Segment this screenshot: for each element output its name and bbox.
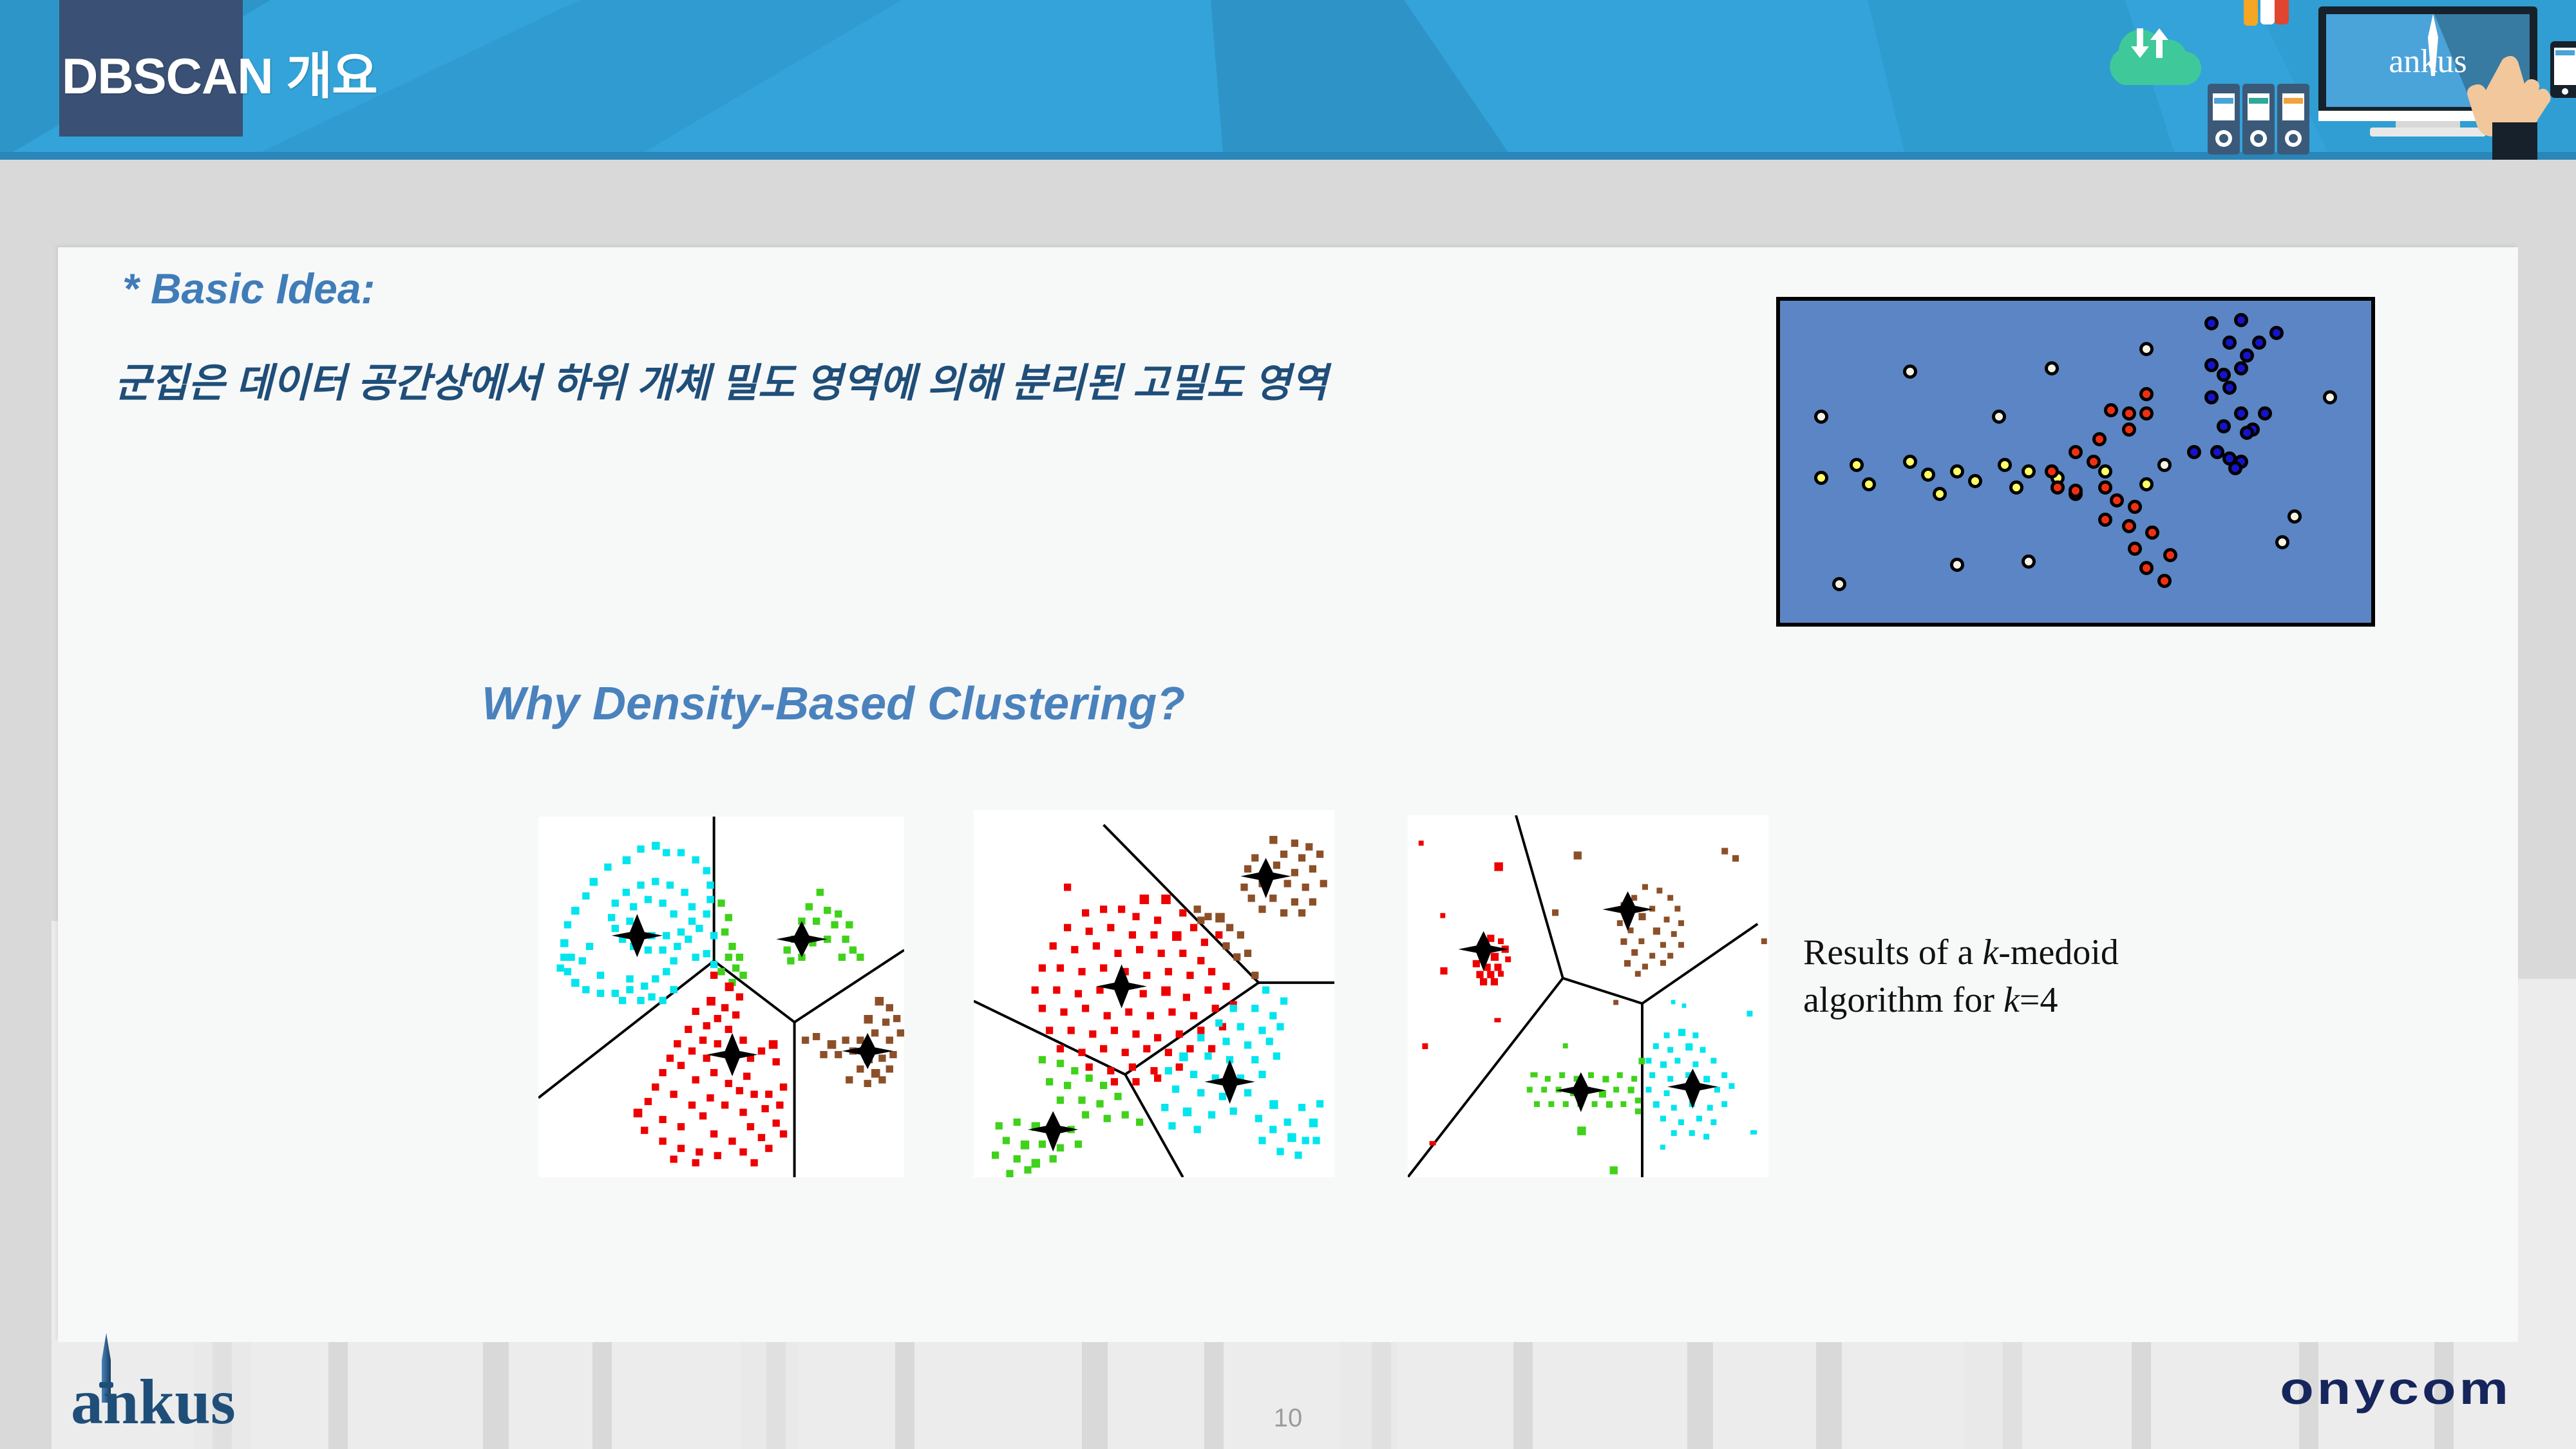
scatter-point-cluster-red xyxy=(2145,526,2159,540)
scatter-point-cluster-yellow xyxy=(1921,468,1935,482)
scatter-point-cluster-yellow xyxy=(1903,455,1917,469)
page-number: 10 xyxy=(0,1404,2576,1433)
scatter-point-noise-white xyxy=(2287,509,2302,524)
onycom-logo: onycom xyxy=(2280,1363,2512,1415)
page-title: DBSCAN 개요 xyxy=(62,36,377,108)
slide-canvas: DBSCAN 개요 xyxy=(0,0,2576,1449)
scatter-point-cluster-red xyxy=(2087,455,2101,469)
scatter-point-cluster-yellow xyxy=(1850,458,1864,472)
cloud-sync-icon xyxy=(2110,28,2201,85)
scatter-point-cluster-red xyxy=(2104,403,2118,417)
scatter-point-cluster-red xyxy=(2122,519,2136,533)
basic-idea-label: * Basic Idea: xyxy=(122,264,375,313)
kmedoid-caption-k2: k xyxy=(2003,980,2020,1020)
scatter-point-cluster-blue xyxy=(2217,368,2231,382)
scatter-point-cluster-red xyxy=(2069,484,2083,498)
scatter-point-cluster-blue xyxy=(2258,406,2272,421)
kmedoid-caption-line1-post: -medoid xyxy=(1998,933,2119,972)
scatter-point-noise-white xyxy=(2157,458,2172,472)
scatter-point-noise-white xyxy=(1950,558,1964,572)
scatter-point-cluster-blue xyxy=(2234,313,2248,327)
scatter-point-cluster-blue xyxy=(2228,461,2242,475)
scatter-point-cluster-blue xyxy=(2187,445,2201,459)
scatter-point-cluster-blue xyxy=(2222,381,2237,395)
pencils-icon xyxy=(2244,0,2289,26)
scatter-point-cluster-red xyxy=(2139,387,2154,401)
scatter-point-noise-white xyxy=(2139,342,2154,356)
scatter-point-cluster-red xyxy=(2098,480,2112,495)
header-artwork: ankus xyxy=(1984,0,2576,160)
scatter-point-noise-white xyxy=(2323,390,2337,404)
scatter-point-cluster-red xyxy=(2122,422,2136,437)
scatter-point-noise-white xyxy=(1832,577,1846,591)
slide-header: DBSCAN 개요 xyxy=(0,0,2576,160)
scatter-point-cluster-blue xyxy=(2252,336,2266,350)
scatter-point-cluster-blue xyxy=(2269,326,2284,340)
scatter-point-noise-white xyxy=(2022,554,2036,569)
scatter-point-cluster-red xyxy=(2122,406,2136,421)
header-gray-band xyxy=(0,160,2576,256)
scatter-point-cluster-blue xyxy=(2222,336,2237,350)
kmedoid-panel-1 xyxy=(538,817,904,1177)
scatter-point-cluster-blue xyxy=(2234,406,2248,421)
kmedoid-caption-k1: k xyxy=(1982,933,1998,972)
kmedoid-panel-3 xyxy=(1408,815,1768,1177)
scatter-point-cluster-blue xyxy=(2204,390,2219,404)
scatter-point-noise-white xyxy=(2275,535,2289,549)
scatter-point-cluster-yellow xyxy=(1968,474,1982,488)
scatter-point-cluster-red xyxy=(2098,513,2112,527)
scatter-point-cluster-red xyxy=(2163,548,2177,562)
scatter-point-cluster-yellow xyxy=(1950,464,1964,478)
dbscan-scatter-chart xyxy=(1776,297,2375,627)
scatter-point-cluster-red xyxy=(2092,432,2107,446)
svg-text:ankus: ankus xyxy=(2389,43,2467,80)
scatter-point-cluster-yellow xyxy=(1933,487,1947,501)
scatter-point-cluster-red xyxy=(2128,500,2142,514)
binders-icon xyxy=(2208,84,2309,155)
scatter-point-cluster-red xyxy=(2139,406,2154,421)
kmedoid-caption-line2-post: =4 xyxy=(2020,980,2058,1020)
scatter-point-cluster-red xyxy=(2050,480,2065,495)
scatter-point-cluster-red xyxy=(2128,542,2142,556)
scatter-point-cluster-blue xyxy=(2240,426,2254,440)
scatter-point-cluster-blue xyxy=(2240,348,2254,363)
scatter-point-cluster-red xyxy=(2139,561,2154,575)
scatter-point-cluster-blue xyxy=(2217,419,2231,433)
kmedoid-caption: Results of a k-medoid algorithm for k=4 xyxy=(1803,929,2293,1025)
scatter-point-cluster-blue xyxy=(2234,361,2248,375)
basic-idea-description: 군집은 데이터 공간상에서 하위 개체 밀도 영역에 의해 분리된 고밀도 영역 xyxy=(115,355,1377,412)
scatter-point-cluster-yellow xyxy=(2022,464,2036,478)
scatter-point-noise-white xyxy=(1814,410,1828,424)
scatter-point-cluster-yellow xyxy=(1998,458,2012,472)
scatter-point-cluster-blue xyxy=(2204,358,2219,372)
scatter-point-cluster-red xyxy=(2157,574,2172,588)
kmedoid-panel-2 xyxy=(974,810,1334,1177)
scatter-point-noise-white xyxy=(2045,361,2059,375)
scatter-point-cluster-red xyxy=(2069,445,2083,459)
scatter-point-cluster-yellow xyxy=(2139,477,2154,491)
scatter-point-noise-white xyxy=(1903,365,1917,379)
scatter-point-noise-white xyxy=(1992,410,2006,424)
kmedoid-caption-line1-pre: Results of a xyxy=(1803,933,1982,972)
scatter-point-cluster-yellow xyxy=(1862,477,1876,491)
scatter-point-cluster-yellow xyxy=(2009,480,2023,495)
smartphone-icon xyxy=(2550,41,2576,98)
scatter-point-cluster-yellow xyxy=(2098,464,2112,478)
why-density-heading: Why Density-Based Clustering? xyxy=(482,677,1185,730)
scatter-point-cluster-yellow xyxy=(1814,471,1828,485)
kmedoid-caption-line2-pre: algorithm for xyxy=(1803,980,2003,1020)
scatter-point-cluster-blue xyxy=(2204,316,2219,330)
scatter-point-cluster-red xyxy=(2110,493,2124,507)
